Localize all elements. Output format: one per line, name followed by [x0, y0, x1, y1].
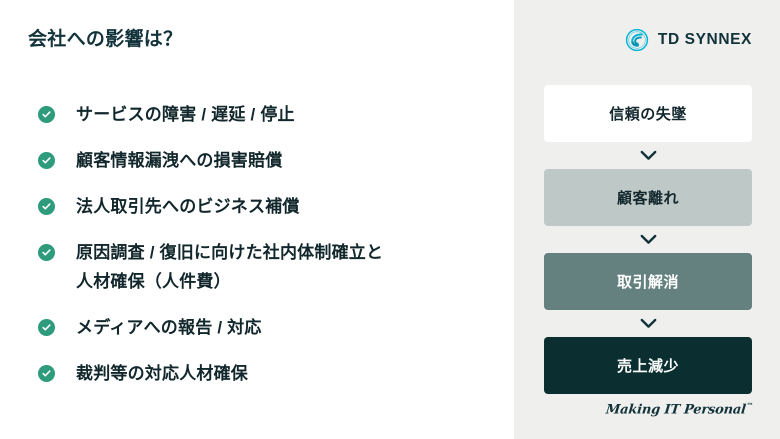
brand-tagline: Making IT Personal™ [605, 401, 753, 417]
list-item-label: 原因調査 / 復旧に向けた社内体制確立と人材確保（人件費） [76, 238, 383, 296]
flow-step-2: 顧客離れ [544, 169, 752, 226]
check-circle-icon [38, 198, 55, 215]
list-item-line: 人材確保（人件費） [76, 272, 231, 291]
check-circle-icon [38, 152, 55, 169]
list-item: 原因調査 / 復旧に向けた社内体制確立と人材確保（人件費） [38, 241, 488, 296]
page-title: 会社への影響は？ [28, 24, 182, 51]
list-item-label: 顧客情報漏洩への損害賠償 [76, 146, 282, 175]
brand-tagline-text: Making IT Personal [605, 402, 746, 417]
sidebar-panel: TD SYNNEX 信頼の失墜 顧客離れ 取引解消 売上減少 [514, 0, 780, 439]
chevron-down-icon [544, 142, 752, 169]
trademark-mark: ™ [746, 401, 754, 410]
td-synnex-swirl-icon [625, 28, 649, 52]
list-item-label: メディアへの報告 / 対応 [76, 313, 262, 342]
list-item-label: サービスの障害 / 遅延 / 停止 [76, 100, 295, 129]
flow-step-label: 顧客離れ [617, 187, 679, 208]
list-item: 裁判等の対応人材確保 [38, 362, 488, 388]
flow-step-label: 取引解消 [617, 271, 679, 292]
impact-flow-chart: 信頼の失墜 顧客離れ 取引解消 売上減少 [544, 85, 752, 394]
check-circle-icon [38, 319, 55, 336]
flow-step-4: 売上減少 [544, 337, 752, 394]
content-panel: 会社への影響は？ サービスの障害 / 遅延 / 停止 顧客情報漏洩への損害賠償 [0, 0, 514, 439]
check-circle-icon [38, 244, 55, 261]
flow-step-label: 信頼の失墜 [609, 103, 687, 124]
chevron-down-icon [544, 226, 752, 253]
list-item: メディアへの報告 / 対応 [38, 316, 488, 342]
list-item: サービスの障害 / 遅延 / 停止 [38, 103, 488, 129]
brand-name: TD SYNNEX [658, 31, 752, 49]
list-item-line: 原因調査 / 復旧に向けた社内体制確立と [76, 243, 383, 262]
slide-canvas: 会社への影響は？ サービスの障害 / 遅延 / 停止 顧客情報漏洩への損害賠償 [0, 0, 780, 439]
flow-step-3: 取引解消 [544, 253, 752, 310]
list-item-label: 裁判等の対応人材確保 [76, 359, 248, 388]
list-item-label: 法人取引先へのビジネス補償 [76, 192, 300, 221]
impact-bullet-list: サービスの障害 / 遅延 / 停止 顧客情報漏洩への損害賠償 法人取引先へのビジ… [38, 103, 488, 408]
brand-logo: TD SYNNEX [625, 28, 752, 52]
check-circle-icon [38, 365, 55, 382]
check-circle-icon [38, 106, 55, 123]
list-item: 顧客情報漏洩への損害賠償 [38, 149, 488, 175]
chevron-down-icon [544, 310, 752, 337]
flow-step-label: 売上減少 [617, 355, 679, 376]
list-item: 法人取引先へのビジネス補償 [38, 195, 488, 221]
flow-step-1: 信頼の失墜 [544, 85, 752, 142]
